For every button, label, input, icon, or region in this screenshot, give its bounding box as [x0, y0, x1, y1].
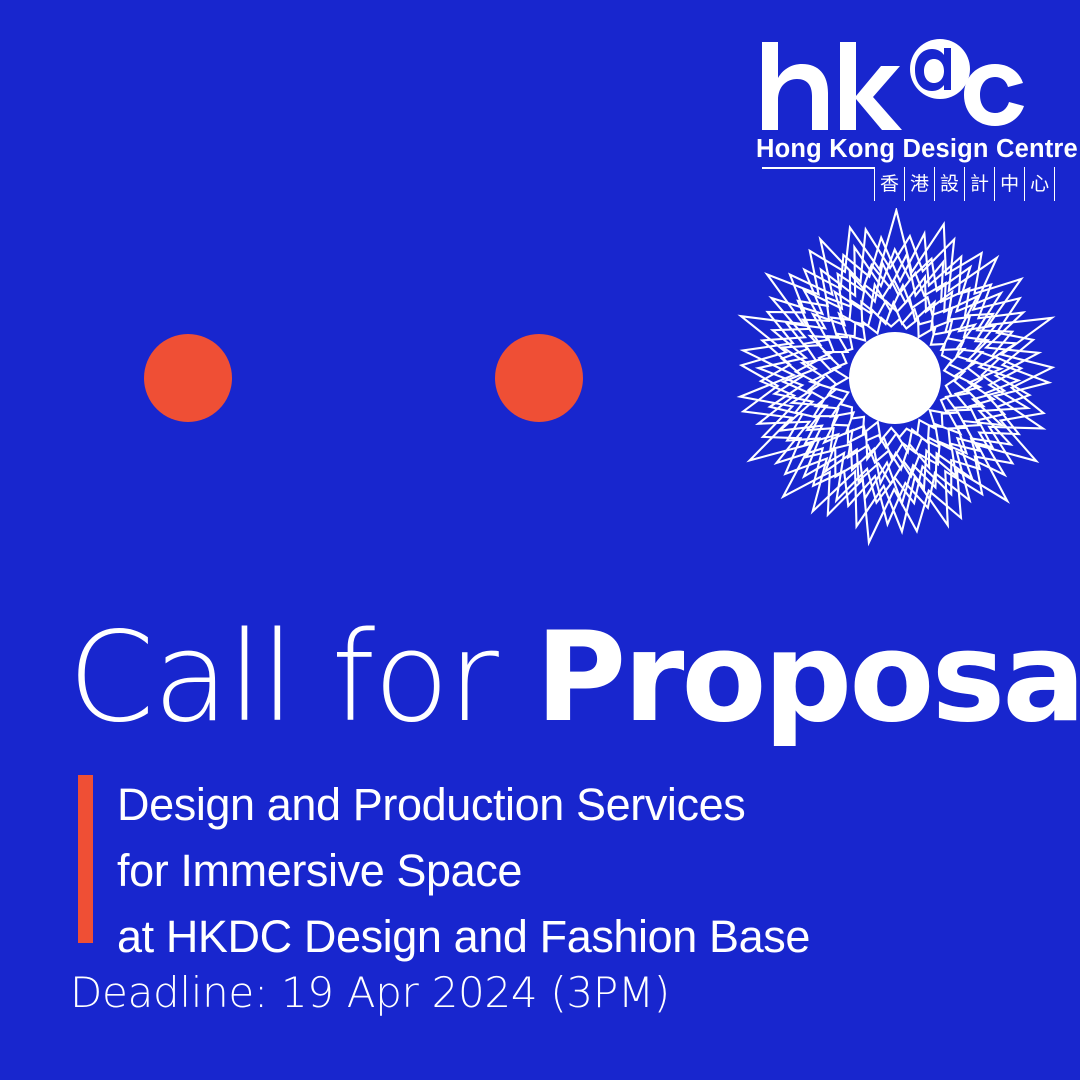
starburst-center-circle: [849, 332, 941, 424]
logo-zh-char-5: 中: [994, 167, 1024, 201]
call-for-proposals-poster: Hong Kong Design Centre 香 港 設 計 中 心 Call…: [0, 0, 1080, 1080]
subtitle-lines: Design and Production Services for Immer…: [117, 772, 977, 970]
page-title-light: Call for: [68, 606, 535, 750]
subtitle-line-3: at HKDC Design and Fashion Base: [117, 904, 977, 970]
logo-zh-char-3: 設: [934, 167, 964, 201]
logo-zh-char-4: 計: [964, 167, 994, 201]
logo-zh-char-1: 香: [874, 167, 904, 201]
logo-zh-char-2: 港: [904, 167, 934, 201]
page-title: Call for Proposals: [68, 618, 1058, 738]
hkdc-wordmark-icon: [756, 38, 1032, 134]
logo-organization-name: Hong Kong Design Centre: [756, 134, 1032, 164]
logo-zh-char-6: 心: [1024, 167, 1055, 201]
subtitle-line-2: for Immersive Space: [117, 838, 977, 904]
orange-dot-2: [495, 334, 583, 422]
logo-divider-line: [762, 167, 874, 169]
orange-dot-1: [144, 334, 232, 422]
accent-bar: [78, 775, 93, 943]
subtitle-line-1: Design and Production Services: [117, 772, 977, 838]
deadline-text: Deadline: 19 Apr 2024 (3PM): [70, 967, 670, 1019]
logo-organization-name-zh: 香 港 設 計 中 心: [874, 167, 1055, 201]
hkdc-logo: Hong Kong Design Centre 香 港 設 計 中 心: [756, 38, 1036, 188]
starburst-spirograph-graphic: [725, 208, 1065, 548]
page-title-bold: Proposals: [535, 606, 1080, 750]
